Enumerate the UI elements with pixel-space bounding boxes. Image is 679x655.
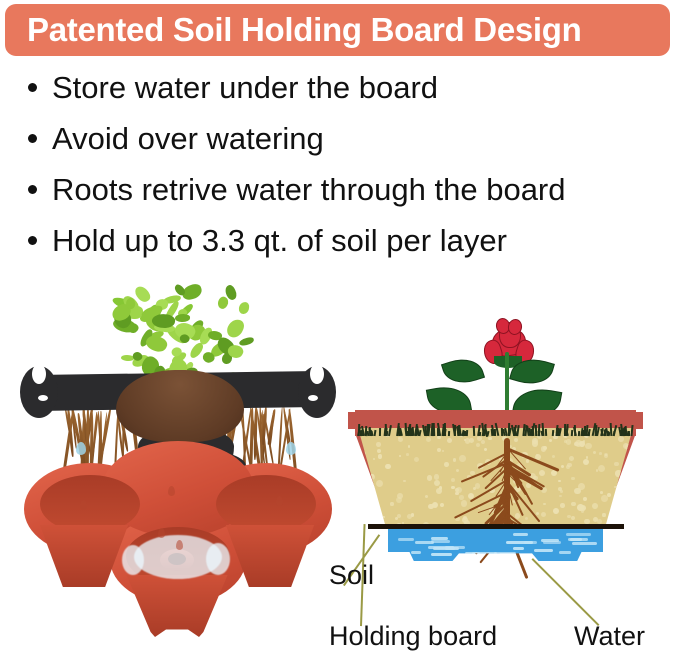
soil-puck bbox=[116, 370, 244, 442]
planter-bowl-left bbox=[40, 475, 140, 533]
feature-text: Store water under the board bbox=[52, 72, 438, 103]
pot-cross-section-diagram bbox=[336, 300, 679, 570]
water-drop-icon bbox=[76, 442, 86, 455]
list-item: Store water under the board bbox=[0, 62, 679, 113]
board-notch-left-icon bbox=[32, 364, 46, 384]
product-infographic: Patented Soil Holding Board Design Store… bbox=[0, 0, 679, 655]
holding-board-line bbox=[368, 524, 624, 529]
planter-cone-front bbox=[122, 575, 232, 637]
feature-text: Hold up to 3.3 qt. of soil per layer bbox=[52, 225, 507, 256]
water-splash-left bbox=[122, 545, 144, 575]
list-item: Roots retrive water through the board bbox=[0, 164, 679, 215]
planter-product-photo bbox=[18, 278, 338, 638]
bullet-icon bbox=[28, 134, 37, 143]
label-holding-board: Holding board bbox=[329, 621, 497, 652]
bullet-icon bbox=[28, 236, 37, 245]
title-banner: Patented Soil Holding Board Design bbox=[5, 4, 670, 56]
planter-bowl-right bbox=[216, 475, 316, 533]
bullet-icon bbox=[28, 185, 37, 194]
feature-text: Roots retrive water through the board bbox=[52, 174, 566, 205]
board-notch-right-icon bbox=[310, 364, 324, 384]
board-hole-right-icon bbox=[308, 395, 318, 401]
water-drop-icon bbox=[158, 528, 165, 538]
list-item: Hold up to 3.3 qt. of soil per layer bbox=[0, 215, 679, 266]
water-drop-icon bbox=[286, 442, 296, 455]
water-drop-icon bbox=[80, 500, 87, 510]
feature-list: Store water under the board Avoid over w… bbox=[0, 62, 679, 266]
board-hole-left-icon bbox=[38, 395, 48, 401]
label-water: Water bbox=[574, 621, 645, 652]
bullet-icon bbox=[28, 83, 37, 92]
page-title: Patented Soil Holding Board Design bbox=[27, 11, 582, 49]
water-drop-icon bbox=[176, 540, 183, 550]
water-drop-icon bbox=[276, 496, 283, 506]
water-drop-icon bbox=[168, 486, 175, 496]
label-soil: Soil bbox=[329, 560, 374, 591]
water-splash-right bbox=[206, 543, 230, 575]
feature-text: Avoid over watering bbox=[52, 123, 324, 154]
list-item: Avoid over watering bbox=[0, 113, 679, 164]
